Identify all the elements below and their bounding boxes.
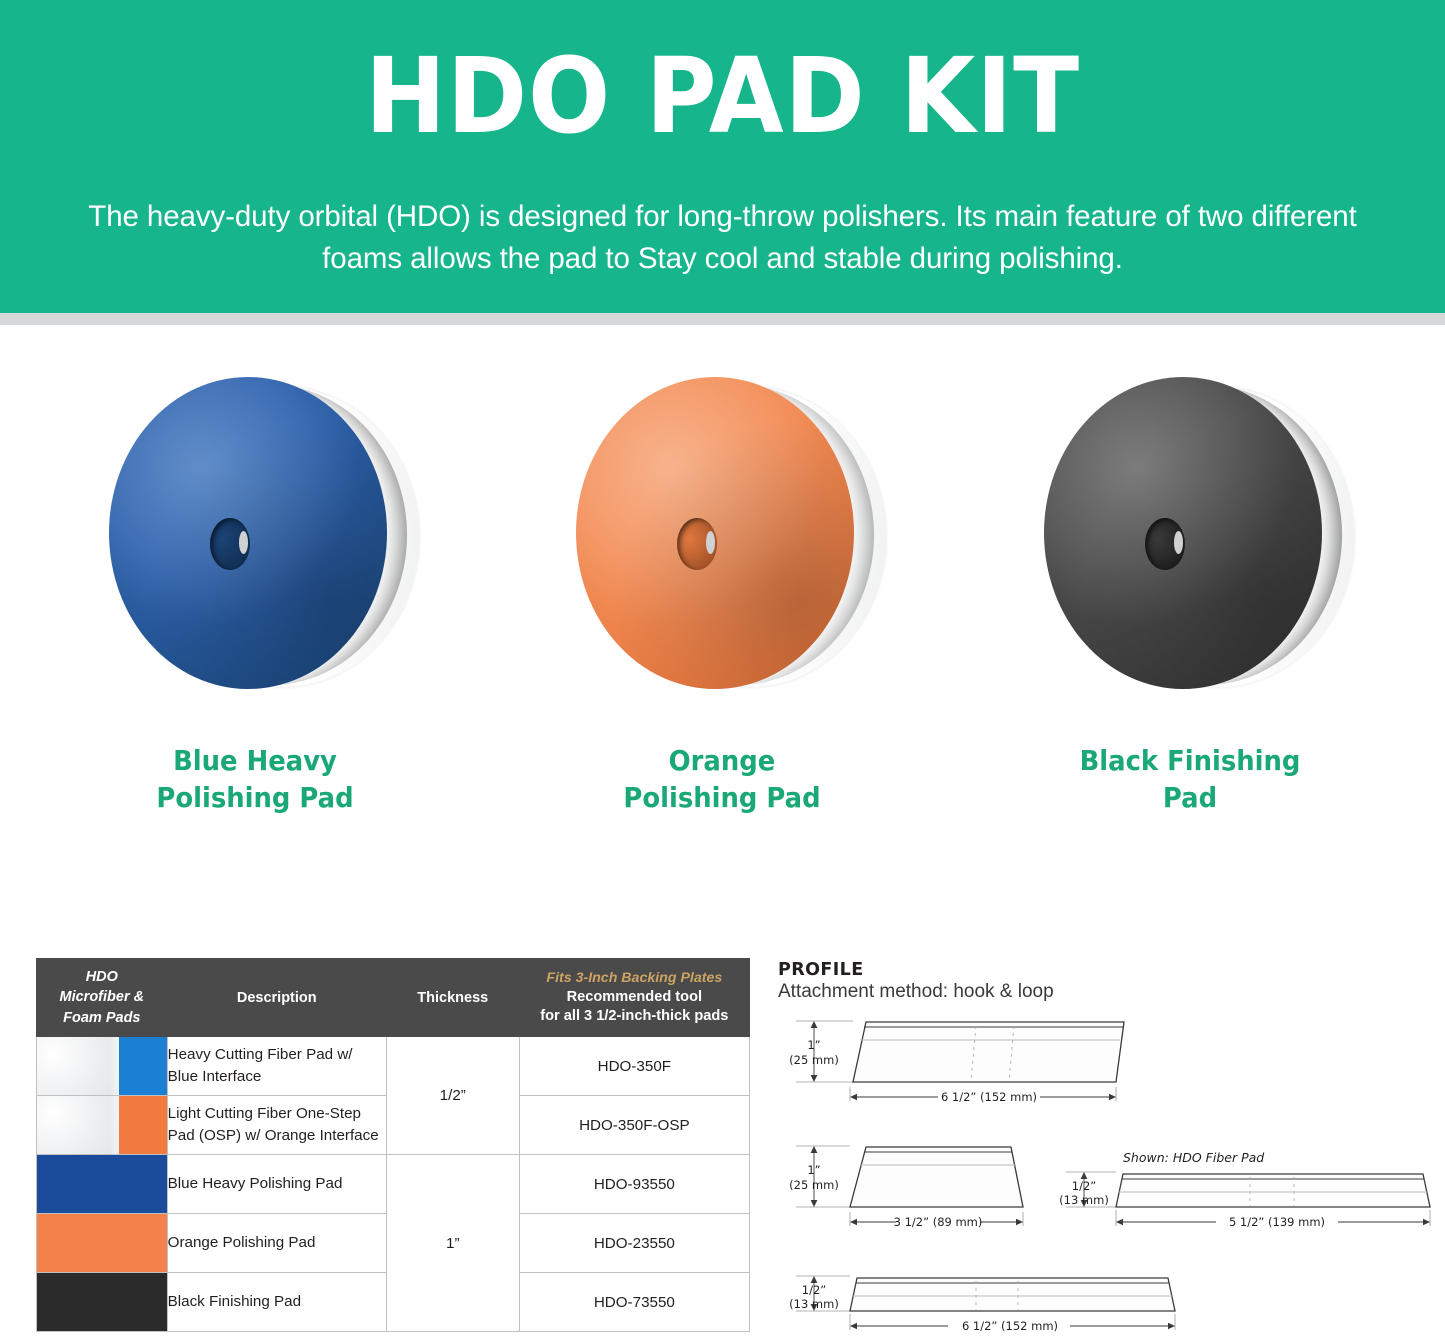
hero-divider: [0, 313, 1445, 325]
dim-height-in-4: 1/2”: [802, 1283, 826, 1297]
swatch-solid-orange: [37, 1214, 167, 1272]
dim-width-4: 6 1/2” (152 mm): [962, 1319, 1058, 1333]
tool-header-line-1: Recommended tool: [526, 988, 743, 1006]
tool-cell: HDO-73550: [519, 1273, 749, 1332]
swatch-header-line-3: Foam Pads: [63, 1010, 140, 1026]
column-header-thickness: Thickness: [386, 959, 519, 1037]
dim-height-in-1: 1”: [807, 1038, 820, 1052]
swatch-blue-interface: [119, 1037, 167, 1095]
swatch-header-line-2: Microfiber &: [60, 989, 145, 1005]
dim-height-mm-2: (25 mm): [789, 1178, 839, 1192]
pad-item-black[interactable]: Black Finishing Pad: [990, 325, 1390, 945]
profile-diagrams: 1” (25 mm) 6 1/2” (152 mm) 1” (25 mm) 3 …: [778, 1004, 1438, 1334]
table-header-row: HDO Microfiber & Foam Pads Description T…: [37, 959, 750, 1037]
tool-cell: HDO-350F-OSP: [519, 1096, 749, 1155]
page-title: HDO PAD KIT: [51, 44, 1395, 148]
black-pad-image: [1040, 371, 1340, 701]
pad-label-orange: Orange Polishing Pad: [534, 743, 910, 817]
column-header-swatch: HDO Microfiber & Foam Pads: [37, 959, 168, 1037]
pad-item-orange[interactable]: Orange Polishing Pad: [522, 325, 922, 945]
tool-cell: HDO-93550: [519, 1155, 749, 1214]
description-line-2: Pad (OSP) w/ Orange Interface: [168, 1127, 379, 1144]
diagram-large-foam-pad: [796, 1021, 1124, 1101]
pad-label-line-2: Polishing Pad: [156, 782, 353, 814]
description-cell: Black Finishing Pad: [167, 1273, 386, 1332]
thickness-cell: 1/2”: [386, 1037, 519, 1155]
pad-label-line-2: Pad: [1163, 782, 1217, 814]
column-header-tool: Fits 3-Inch Backing Plates Recommended t…: [519, 959, 749, 1037]
profile-panel: PROFILE Attachment method: hook & loop: [778, 952, 1438, 1337]
dim-height-mm-3: (13 mm): [1059, 1193, 1109, 1207]
dim-width-2: 3 1/2” (89 mm): [894, 1215, 983, 1229]
pad-label-line-1: Blue Heavy: [173, 745, 337, 777]
table-body: Heavy Cutting Fiber Pad w/ Blue Interfac…: [37, 1037, 750, 1332]
hero-subtitle: The heavy-duty orbital (HDO) is designed…: [50, 196, 1395, 280]
swatch-cell: [37, 1214, 168, 1273]
table-row[interactable]: Blue Heavy Polishing Pad 1” HDO-93550: [37, 1155, 750, 1214]
description-line-1: Heavy Cutting Fiber Pad w/: [168, 1046, 353, 1063]
swatch-cell: [37, 1155, 168, 1214]
description-line-1: Light Cutting Fiber One-Step: [168, 1105, 361, 1122]
dim-width-3: 5 1/2” (139 mm): [1229, 1215, 1325, 1229]
pad-label-line-1: Black Finishing: [1080, 745, 1301, 777]
thickness-cell: 1”: [386, 1155, 519, 1332]
dim-height-in-3: 1/2”: [1072, 1179, 1096, 1193]
pad-center-hole: [677, 518, 717, 570]
profile-subtitle: Attachment method: hook & loop: [778, 981, 1438, 1003]
dim-height-mm-4: (13 mm): [789, 1297, 839, 1311]
description-cell: Blue Heavy Polishing Pad: [167, 1155, 386, 1214]
swatch-white-fiber: [37, 1037, 119, 1095]
bottom-section: HDO Microfiber & Foam Pads Description T…: [0, 952, 1445, 1337]
tool-cell: HDO-23550: [519, 1214, 749, 1273]
pad-item-blue[interactable]: Blue Heavy Polishing Pad: [55, 325, 455, 945]
description-cell: Light Cutting Fiber One-Step Pad (OSP) w…: [167, 1096, 386, 1155]
swatch-orange-interface: [119, 1096, 167, 1154]
swatch-split-orange: [37, 1096, 167, 1154]
pad-label-line-2: Polishing Pad: [623, 782, 820, 814]
tool-header-line-2: for all 3 1/2-inch-thick pads: [526, 1007, 743, 1025]
description-cell: Orange Polishing Pad: [167, 1214, 386, 1273]
blue-pad-image: [105, 371, 405, 701]
dim-width-1: 6 1/2” (152 mm): [941, 1090, 1037, 1104]
description-line-2: Blue Interface: [168, 1068, 262, 1085]
column-header-description: Description: [167, 959, 386, 1037]
swatch-cell: [37, 1096, 168, 1155]
description-cell: Heavy Cutting Fiber Pad w/ Blue Interfac…: [167, 1037, 386, 1096]
swatch-solid-black: [37, 1273, 167, 1331]
hero-banner: HDO PAD KIT The heavy-duty orbital (HDO)…: [0, 0, 1445, 313]
spec-table: HDO Microfiber & Foam Pads Description T…: [36, 958, 750, 1332]
dim-height-in-2: 1”: [807, 1163, 820, 1177]
pad-label-black: Black Finishing Pad: [1002, 743, 1378, 817]
pad-label-line-1: Orange: [669, 745, 776, 777]
swatch-header-line-1: HDO: [86, 969, 118, 985]
profile-note: Shown: HDO Fiber Pad: [1123, 1150, 1264, 1165]
tool-cell: HDO-350F: [519, 1037, 749, 1096]
pad-label-blue: Blue Heavy Polishing Pad: [67, 743, 443, 817]
swatch-cell: [37, 1273, 168, 1332]
tool-header-gold: Fits 3-Inch Backing Plates: [526, 970, 743, 986]
table-header: HDO Microfiber & Foam Pads Description T…: [37, 959, 750, 1037]
orange-pad-image: [572, 371, 872, 701]
pad-center-hole: [1145, 518, 1185, 570]
pad-center-hole: [210, 518, 250, 570]
swatch-white-fiber: [37, 1096, 119, 1154]
dim-height-mm-1: (25 mm): [789, 1053, 839, 1067]
profile-title: PROFILE: [778, 960, 1438, 980]
table-row[interactable]: Heavy Cutting Fiber Pad w/ Blue Interfac…: [37, 1037, 750, 1096]
swatch-cell: [37, 1037, 168, 1096]
pad-gallery: Blue Heavy Polishing Pad Orange Polishin…: [0, 325, 1445, 945]
swatch-solid-blue: [37, 1155, 167, 1213]
swatch-split-blue: [37, 1037, 167, 1095]
